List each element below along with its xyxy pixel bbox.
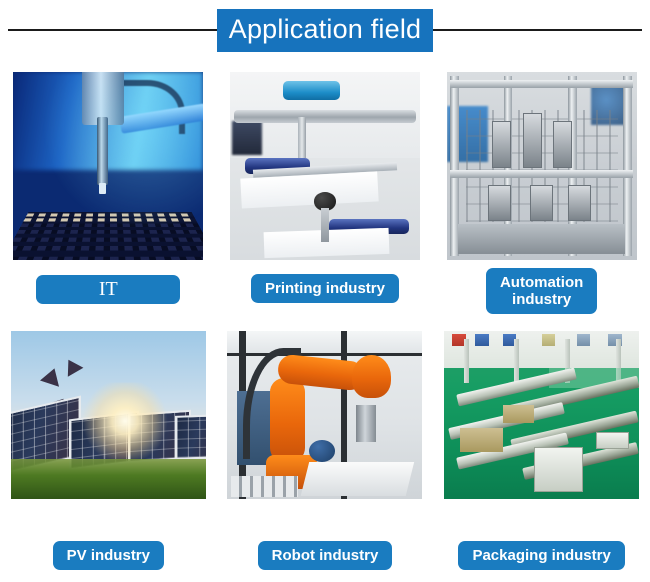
label-pv[interactable]: PV industry	[53, 541, 164, 570]
solar-panels-photo	[11, 331, 206, 499]
grid-cell-packaging[interactable]: Packaging industry	[433, 321, 650, 582]
grid-cell-it[interactable]: IT	[0, 60, 217, 321]
page-header: Application field	[0, 0, 650, 60]
grid-cell-pv[interactable]: PV industry	[0, 321, 217, 582]
label-packaging[interactable]: Packaging industry	[458, 541, 624, 570]
grid-cell-automation[interactable]: Automation industry	[433, 60, 650, 321]
printing-press-photo	[230, 72, 420, 260]
grid-row-1: IT Printing industry	[0, 60, 650, 321]
grid-cell-printing[interactable]: Printing industry	[217, 60, 434, 321]
label-robot[interactable]: Robot industry	[258, 541, 393, 570]
grid-cell-robot[interactable]: Robot industry	[217, 321, 434, 582]
label-it[interactable]: IT	[36, 275, 180, 304]
label-printing[interactable]: Printing industry	[251, 274, 399, 303]
page-title: Application field	[217, 9, 434, 52]
header-rule-right	[433, 29, 642, 31]
pick-and-place-machine-photo	[13, 72, 203, 260]
label-automation[interactable]: Automation industry	[486, 268, 597, 315]
robot-arm-photo	[227, 331, 422, 499]
grid-row-2: PV industry Robot industry	[0, 321, 650, 582]
automation-line-photo	[447, 72, 637, 260]
application-field-grid: IT Printing industry	[0, 60, 650, 582]
packaging-factory-photo	[444, 331, 639, 499]
header-rule-left	[8, 29, 217, 31]
